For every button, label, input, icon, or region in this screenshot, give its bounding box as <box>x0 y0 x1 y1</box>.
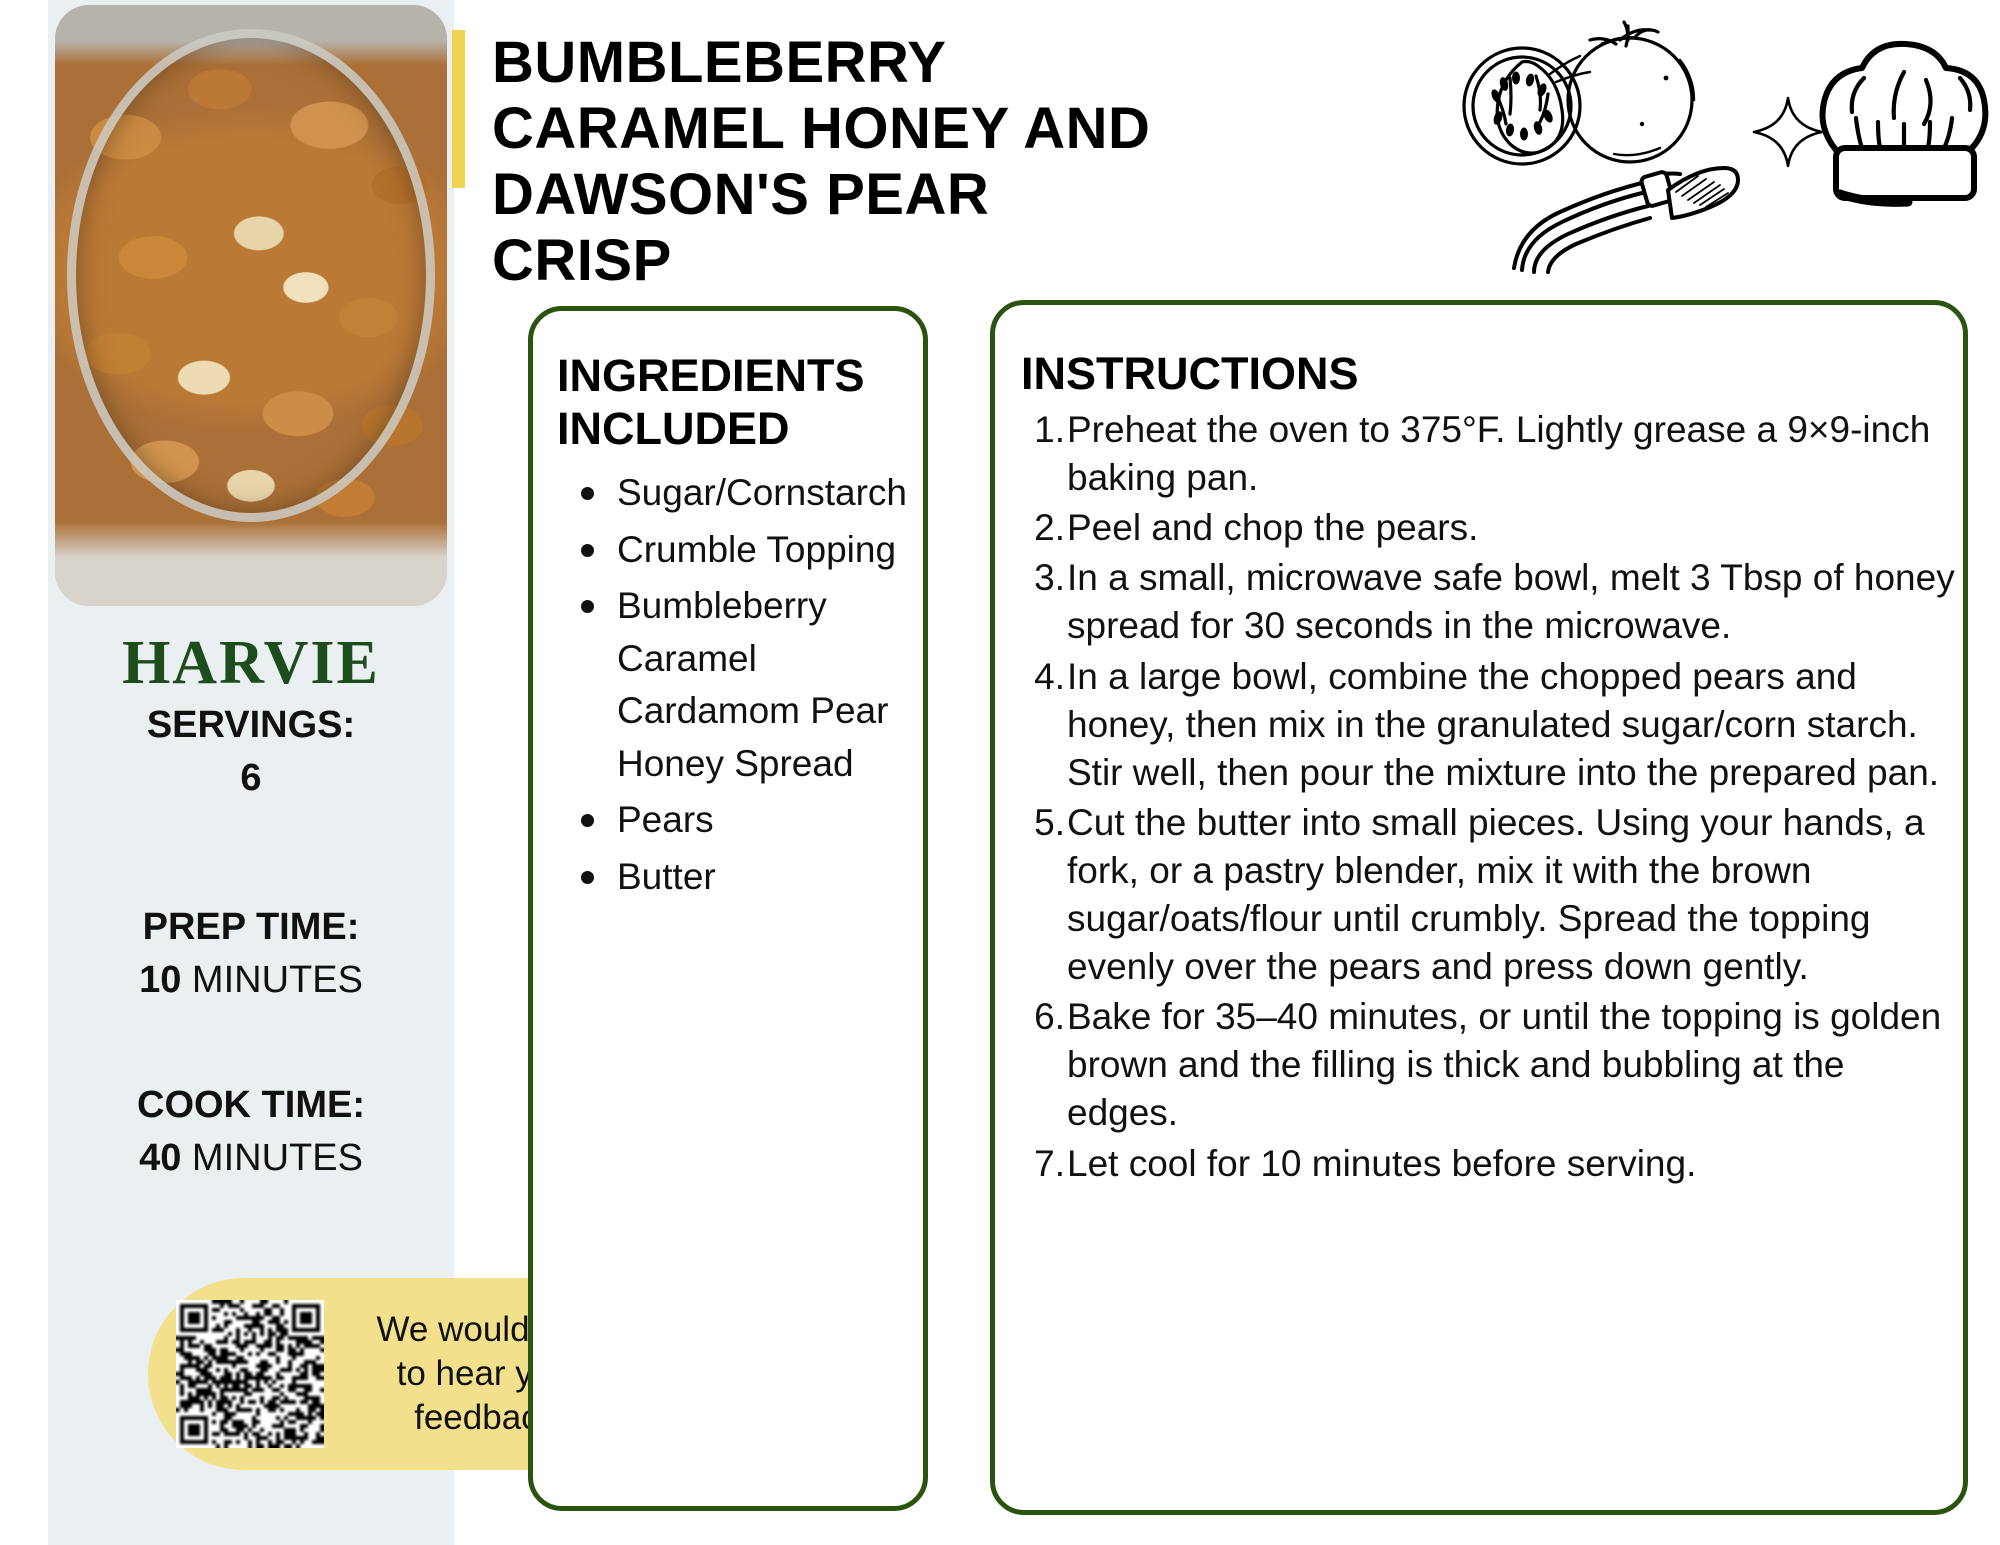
instruction-step: Peel and chop the pears. <box>1019 504 1963 552</box>
instruction-step: In a large bowl, combine the chopped pea… <box>1019 653 1963 797</box>
instruction-step: Let cool for 10 minutes before serving. <box>1019 1140 1963 1188</box>
ingredient-item: Pears <box>573 794 923 847</box>
instruction-step: Cut the butter into small pieces. Using … <box>1019 799 1963 991</box>
recipe-photo <box>55 5 447 606</box>
chef-hat-icon <box>1812 22 1998 212</box>
title-line-1: BUMBLEBERRY <box>492 30 1172 96</box>
instruction-step: In a small, microwave safe bowl, melt 3 … <box>1019 554 1963 650</box>
title-line-2: CARAMEL HONEY AND <box>492 96 1172 162</box>
whisk-icon <box>1508 166 1746 276</box>
prep-time-value: 10 <box>139 959 181 1001</box>
recipe-card: HARVIE SERVINGS: 6 PREP TIME: 10 MINUTES… <box>0 0 2000 1545</box>
brand-logo: HARVIE <box>48 628 454 699</box>
instructions-list: Preheat the oven to 375°F. Lightly greas… <box>1019 406 1963 1188</box>
ingredients-heading: INGREDIENTS INCLUDED <box>557 349 923 455</box>
title-accent-bar <box>452 30 465 188</box>
ingredient-item: Butter <box>573 851 923 904</box>
cook-time-value-line: 40 MINUTES <box>48 1137 454 1180</box>
cook-time-block: COOK TIME: 40 MINUTES <box>48 1084 454 1180</box>
servings-value: 6 <box>48 757 454 800</box>
instruction-step: Bake for 35–40 minutes, or until the top… <box>1019 993 1963 1137</box>
ingredient-item: Crumble Topping <box>573 524 923 577</box>
servings-block: SERVINGS: 6 <box>48 704 454 800</box>
prep-time-label: PREP TIME: <box>48 906 454 949</box>
pie-dish-rim <box>67 29 435 522</box>
instruction-step: Preheat the oven to 375°F. Lightly greas… <box>1019 406 1963 502</box>
prep-time-value-line: 10 MINUTES <box>48 959 454 1002</box>
ingredients-heading-line-1: INGREDIENTS <box>557 349 923 402</box>
ingredient-item: Bumbleberry Caramel Cardamom Pear Honey … <box>573 580 923 790</box>
prep-time-block: PREP TIME: 10 MINUTES <box>48 906 454 1002</box>
instructions-panel: INSTRUCTIONS Preheat the oven to 375°F. … <box>990 300 1968 1515</box>
page-title: BUMBLEBERRY CARAMEL HONEY AND DAWSON'S P… <box>492 30 1172 294</box>
cook-time-label: COOK TIME: <box>48 1084 454 1127</box>
ingredients-heading-line-2: INCLUDED <box>557 402 923 455</box>
title-line-3: DAWSON'S PEAR CRISP <box>492 162 1172 294</box>
ingredients-list: Sugar/CornstarchCrumble ToppingBumbleber… <box>573 467 923 903</box>
ingredient-item: Sugar/Cornstarch <box>573 467 923 520</box>
cook-time-unit: MINUTES <box>192 1137 363 1179</box>
ingredients-panel: INGREDIENTS INCLUDED Sugar/CornstarchCru… <box>528 306 928 1511</box>
prep-time-unit: MINUTES <box>192 959 363 1001</box>
qr-code-icon[interactable] <box>176 1300 324 1448</box>
instructions-heading: INSTRUCTIONS <box>1021 347 1963 400</box>
servings-label: SERVINGS: <box>48 704 454 747</box>
tomato-icon <box>1452 14 1700 184</box>
cook-time-value: 40 <box>139 1137 181 1179</box>
